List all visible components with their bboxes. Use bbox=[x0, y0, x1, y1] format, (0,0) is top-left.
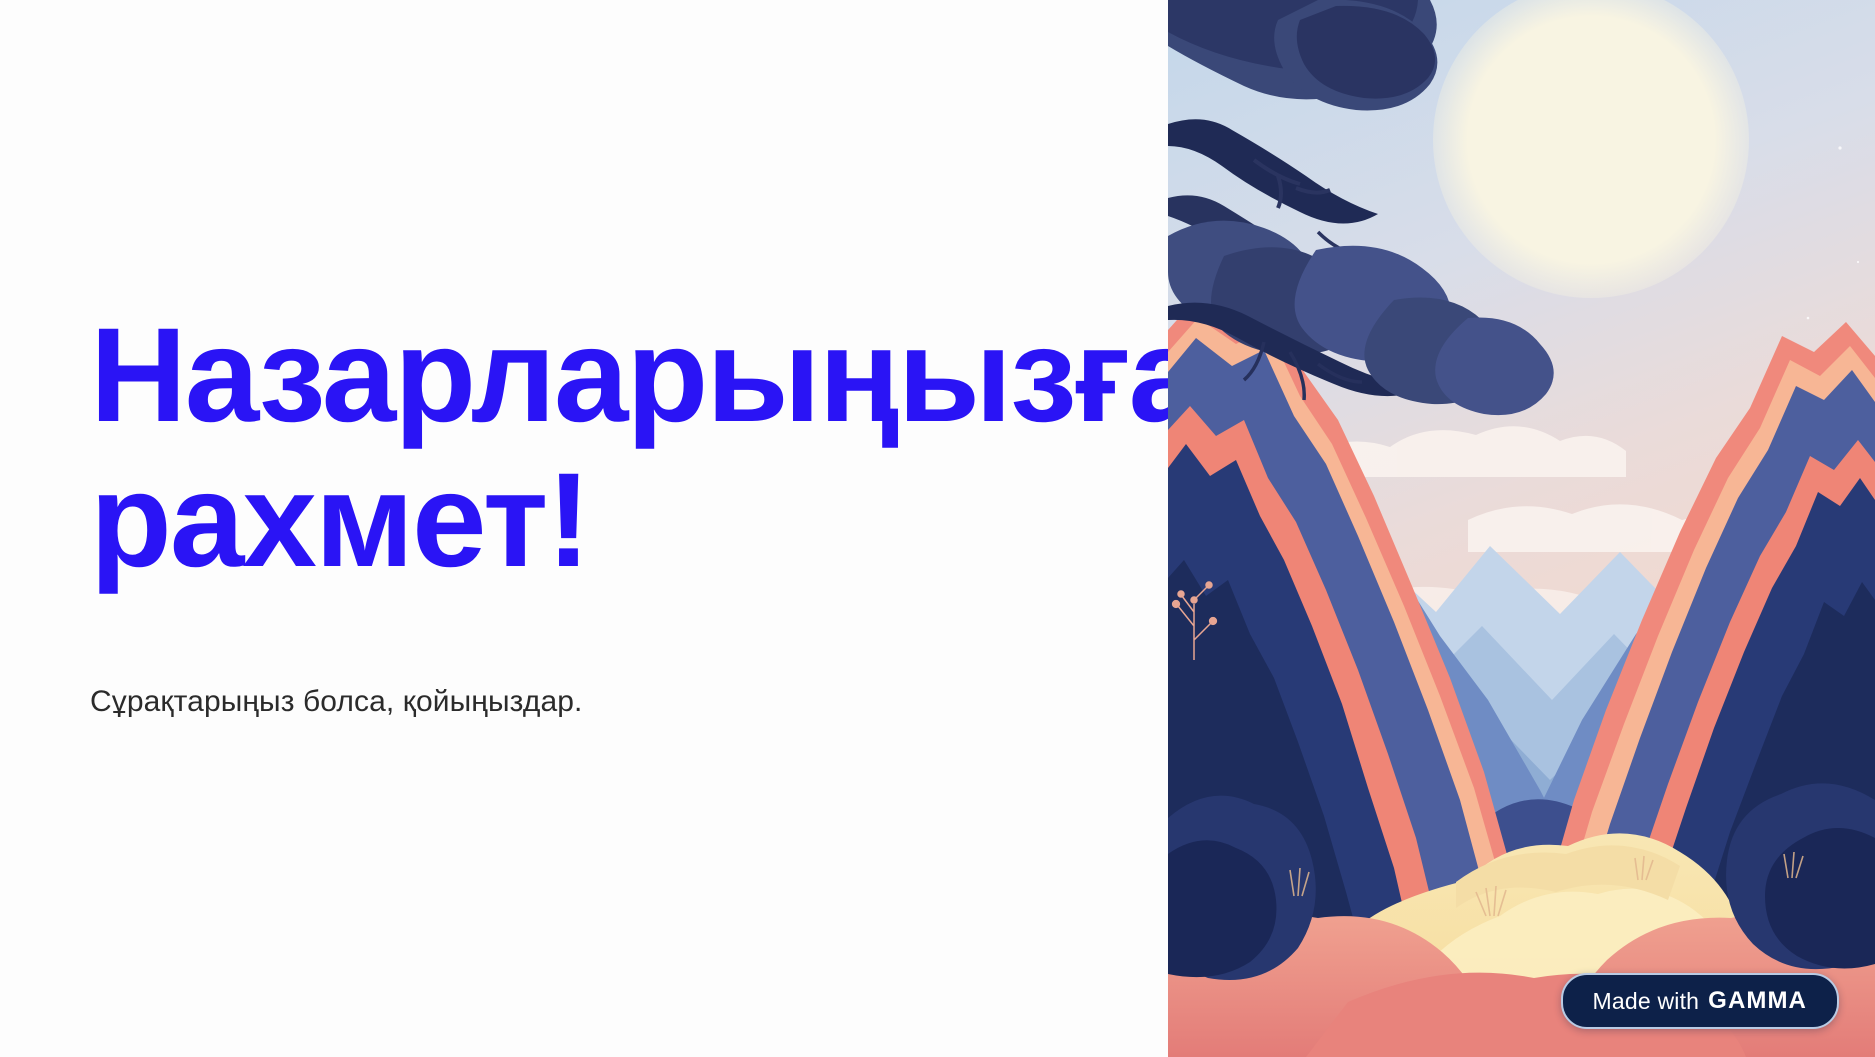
badge-gamma-brand: GAMMA bbox=[1708, 987, 1807, 1015]
made-with-gamma-badge[interactable]: Made with GAMMA bbox=[1561, 973, 1839, 1029]
mountain-valley-illustration bbox=[1168, 0, 1875, 1057]
illustration-panel: Made with GAMMA bbox=[1168, 0, 1875, 1057]
text-panel: Назарларыңызға рахмет! Сұрақтарыңыз болс… bbox=[0, 0, 1168, 1057]
page-title: Назарларыңызға рахмет! bbox=[90, 304, 890, 593]
subtitle-text: Сұрақтарыңыз болса, қойыңыздар. bbox=[90, 681, 1078, 723]
badge-made-with-label: Made with bbox=[1593, 988, 1700, 1015]
slide-root: Назарларыңызға рахмет! Сұрақтарыңыз болс… bbox=[0, 0, 1875, 1057]
